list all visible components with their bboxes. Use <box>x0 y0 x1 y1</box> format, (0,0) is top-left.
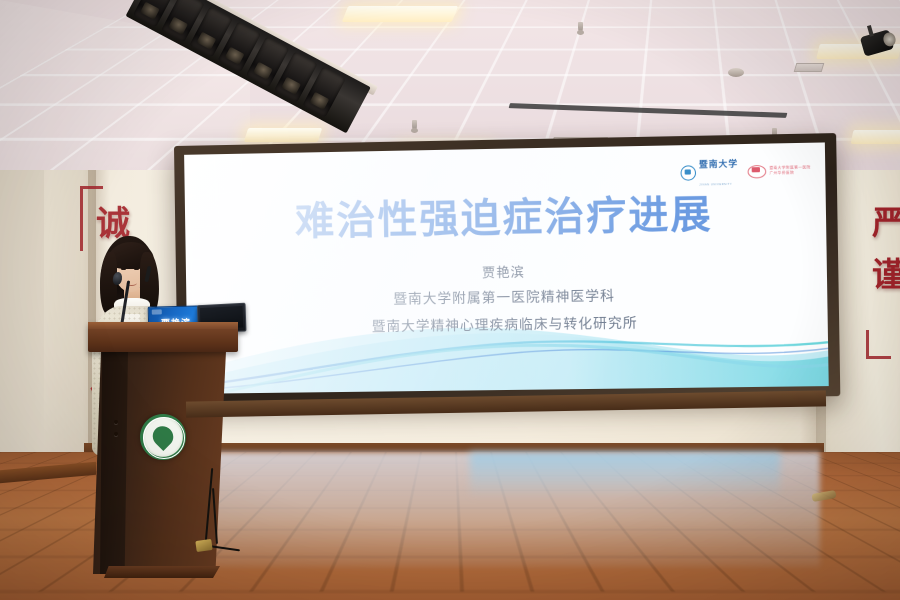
calligraphy-bracket-right <box>866 330 891 359</box>
hospital-logo-line2: 广州华侨医院 <box>769 170 810 176</box>
cable-connector-box <box>195 539 212 552</box>
led-screen[interactable]: 暨南大学 JINAN UNIVERSITY 暨南大学附属第一医院 广州华侨医院 … <box>184 142 829 393</box>
university-emblem-icon <box>680 165 696 181</box>
smoke-detector <box>728 68 744 77</box>
nameplate-glare <box>152 309 162 314</box>
ceiling-air-grill <box>794 63 825 72</box>
podium-fastener <box>114 432 118 436</box>
ceiling-light-panel <box>851 130 900 144</box>
slide-subtitle-block: 贾艳滨 暨南大学附属第一医院精神医学科 暨南大学精神心理疾病临床与转化研究所 <box>186 255 828 343</box>
podium-side-panel <box>100 351 128 574</box>
podium-base <box>104 566 220 578</box>
sprinkler-head <box>578 22 583 33</box>
led-screen-frame: 暨南大学 JINAN UNIVERSITY 暨南大学附属第一医院 广州华侨医院 … <box>174 133 840 404</box>
podium-desktop <box>88 322 238 352</box>
photo-scene: 诚 信 仁 严 谨 <box>0 0 900 600</box>
floor-wave-reflection <box>470 452 780 498</box>
ceiling-light-panel <box>342 6 458 22</box>
calligraphy-right-char: 严 <box>872 196 900 244</box>
hospital-emblem-icon <box>748 164 767 178</box>
hospital-logo: 暨南大学附属第一医院 广州华侨医院 <box>748 164 811 178</box>
slide-title: 难治性强迫症治疗进展 <box>185 181 827 249</box>
podium-hospital-emblem-icon <box>140 414 186 460</box>
calligraphy-right-char: 谨 <box>872 248 900 296</box>
podium-fastener <box>114 420 118 424</box>
hospital-logo-text-block: 暨南大学附属第一医院 广州华侨医院 <box>769 165 811 176</box>
sprinkler-head <box>412 120 417 131</box>
university-logo-name: 暨南大学 <box>699 158 738 169</box>
